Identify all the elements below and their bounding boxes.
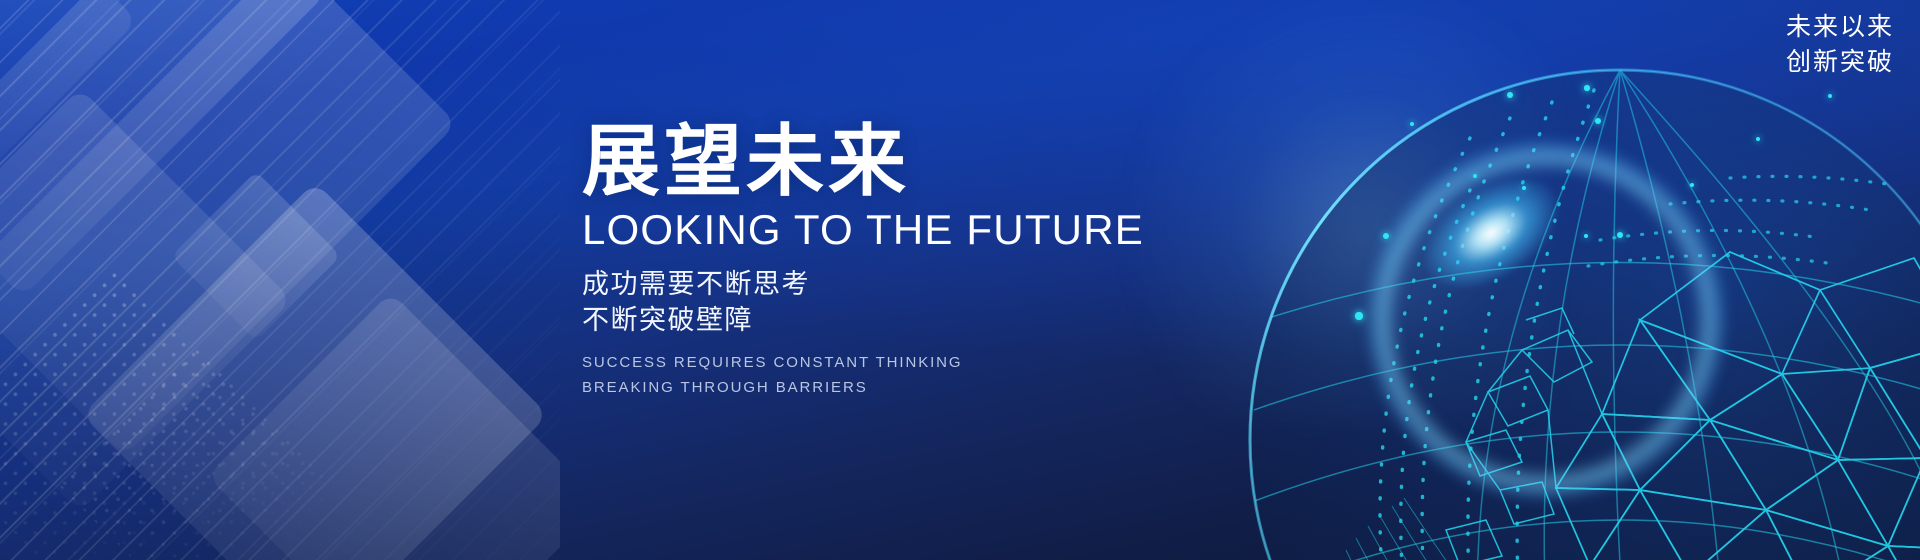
corner-tagline-line1: 未来以来 xyxy=(1786,10,1894,45)
subtitle-en-line2: BREAKING THROUGH BARRIERS xyxy=(582,377,1342,400)
page-title: 展望未来 xyxy=(582,122,1342,200)
float-dot xyxy=(1756,137,1760,141)
corner-tagline: 未来以来 创新突破 xyxy=(1786,10,1894,79)
page-title-english: LOOKING TO THE FUTURE xyxy=(582,206,1342,253)
subtitle-cn-line1: 成功需要不断思考 xyxy=(582,267,1342,303)
float-dot xyxy=(1473,174,1477,178)
corner-tagline-line2: 创新突破 xyxy=(1786,45,1894,80)
hero-banner: 展望未来 LOOKING TO THE FUTURE 成功需要不断思考 不断突破… xyxy=(0,0,1920,560)
float-dot xyxy=(1355,312,1362,319)
subtitle-cn-line2: 不断突破壁障 xyxy=(582,303,1342,339)
diagonal-lines xyxy=(0,0,560,560)
headline-block: 展望未来 LOOKING TO THE FUTURE 成功需要不断思考 不断突破… xyxy=(582,122,1342,399)
float-dot xyxy=(1584,85,1589,90)
left-geometric-pattern xyxy=(0,0,560,560)
float-dot xyxy=(1507,92,1513,98)
subtitle-en-line1: SUCCESS REQUIRES CONSTANT THINKING xyxy=(582,352,1342,375)
float-dot xyxy=(1584,234,1588,238)
